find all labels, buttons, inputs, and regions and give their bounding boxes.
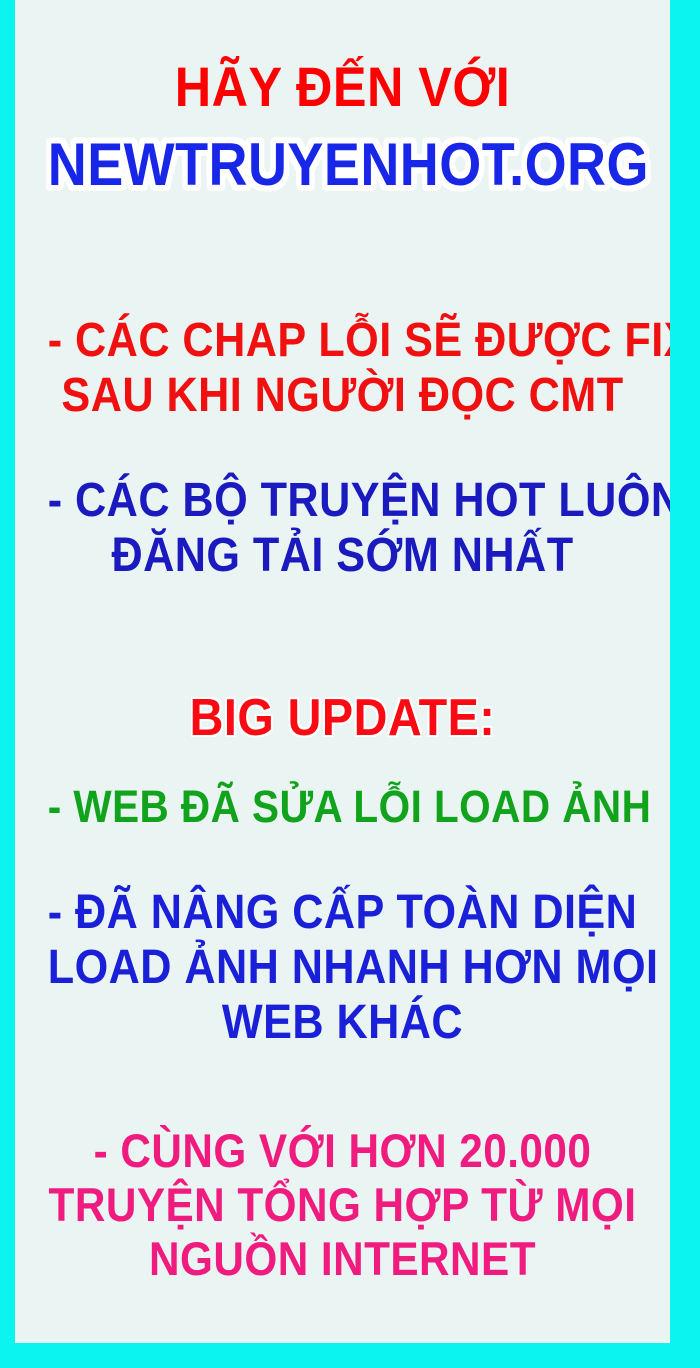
update-item-image-load-fix-line-1: - WEB ĐÃ SỬA LỖI LOAD ẢNH	[48, 784, 638, 830]
headline-invitation: HÃY ĐẾN VỚI	[48, 58, 638, 116]
notice-hot: - CÁC BỘ TRUYỆN HOT LUÔN ĐĂNG TẢI SỚM NH…	[48, 473, 638, 583]
update-item-image-load-fix: - WEB ĐÃ SỬA LỖI LOAD ẢNH	[48, 784, 638, 830]
update-item-story-count-line-2: TRUYỆN TỔNG HỢP TỪ MỌI	[48, 1178, 638, 1232]
update-item-full-upgrade-line-1: - ĐÃ NÂNG CẤP TOÀN DIỆN	[48, 885, 638, 940]
promo-poster: HÃY ĐẾN VỚI NEWTRUYENHOT.ORG - CÁC CHAP …	[0, 0, 700, 1368]
notice-fix-line-1: - CÁC CHAP LỖI SẼ ĐƯỢC FIX	[48, 313, 638, 368]
update-item-story-count-line-3: NGUỒN INTERNET	[48, 1232, 638, 1286]
headline-invitation-line: HÃY ĐẾN VỚI	[48, 58, 638, 116]
notice-fix-line-2: SAU KHI NGƯỜI ĐỌC CMT	[48, 368, 638, 423]
update-item-full-upgrade-line-3: WEB KHÁC	[48, 995, 638, 1050]
site-name-line: NEWTRUYENHOT.ORG	[48, 134, 638, 196]
notice-hot-line-1: - CÁC BỘ TRUYỆN HOT LUÔN	[48, 473, 638, 528]
update-section-title: BIG UPDATE:	[48, 692, 638, 746]
notice-fix: - CÁC CHAP LỖI SẼ ĐƯỢC FIX SAU KHI NGƯỜI…	[48, 313, 638, 423]
update-item-story-count-line-1: - CÙNG VỚI HƠN 20.000	[48, 1124, 638, 1178]
update-item-story-count: - CÙNG VỚI HƠN 20.000 TRUYỆN TỔNG HỢP TỪ…	[48, 1124, 638, 1286]
update-item-full-upgrade-line-2: LOAD ẢNH NHANH HƠN MỌI	[48, 940, 638, 995]
update-item-full-upgrade: - ĐÃ NÂNG CẤP TOÀN DIỆN LOAD ẢNH NHANH H…	[48, 885, 638, 1051]
site-name[interactable]: NEWTRUYENHOT.ORG	[48, 134, 638, 196]
notice-hot-line-2: ĐĂNG TẢI SỚM NHẤT	[48, 528, 638, 583]
update-section-title-line: BIG UPDATE:	[48, 692, 638, 746]
poster-panel: HÃY ĐẾN VỚI NEWTRUYENHOT.ORG - CÁC CHAP …	[15, 0, 670, 1343]
